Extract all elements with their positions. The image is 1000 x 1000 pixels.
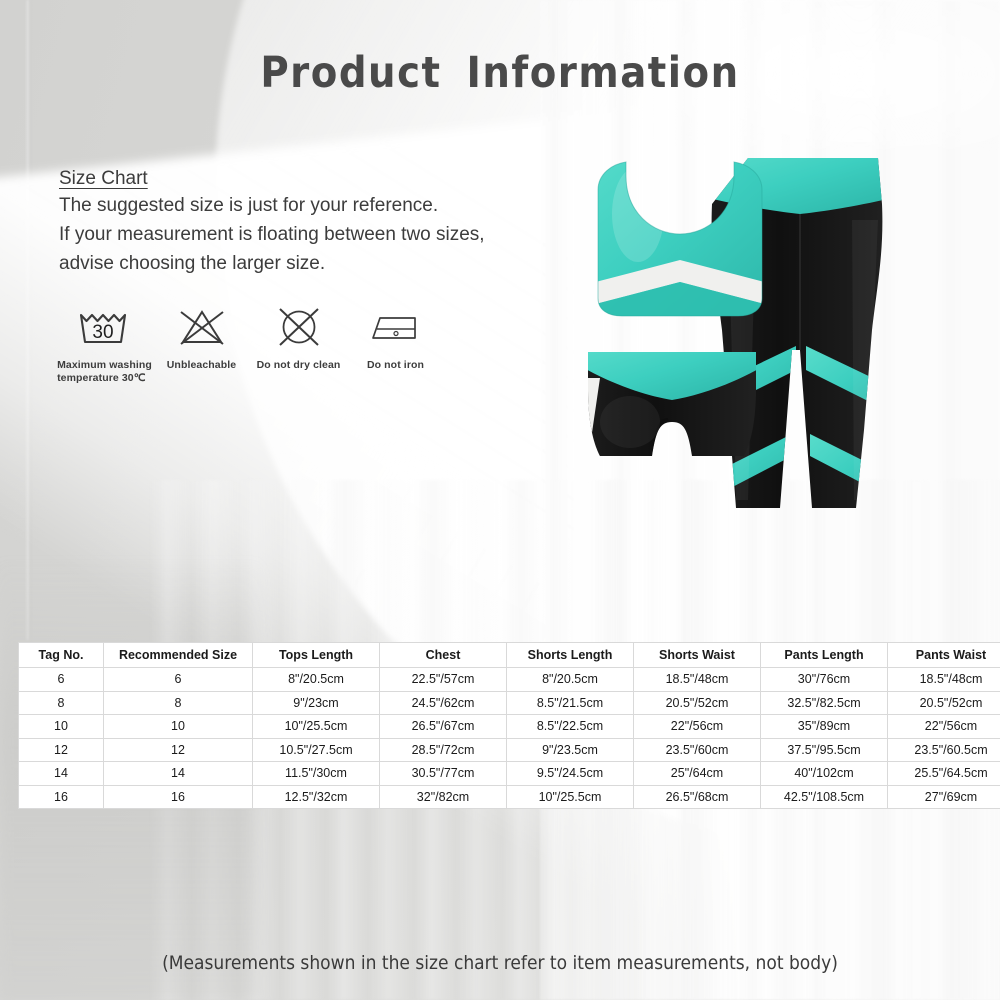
cell-shorts-waist: 23.5"/60cm [634, 738, 761, 762]
col-header-shorts-length: Shorts Length [507, 643, 634, 668]
care-item-washing: 30 Maximum washing temperature 30℃ [56, 304, 153, 385]
no-iron-icon [368, 304, 424, 350]
cell-recommended-size: 14 [104, 762, 253, 786]
table-header-row: Tag No. Recommended Size Tops Length Che… [19, 643, 1000, 668]
cell-chest: 30.5"/77cm [380, 762, 507, 786]
col-header-shorts-waist: Shorts Waist [634, 643, 761, 668]
cell-recommended-size: 6 [104, 668, 253, 692]
cell-pants-length: 32.5"/82.5cm [761, 691, 888, 715]
table-row: 889"/23cm24.5"/62cm8.5"/21.5cm20.5"/52cm… [19, 691, 1000, 715]
col-header-chest: Chest [380, 643, 507, 668]
cell-pants-waist: 22"/56cm [888, 715, 1000, 739]
table-row: 141411.5"/30cm30.5"/77cm9.5"/24.5cm25"/6… [19, 762, 1000, 786]
cell-pants-waist: 20.5"/52cm [888, 691, 1000, 715]
cell-shorts-waist: 22"/56cm [634, 715, 761, 739]
cell-chest: 22.5"/57cm [380, 668, 507, 692]
cell-tops-length: 12.5"/32cm [253, 785, 380, 809]
size-chart-line-2: If your measurement is floating between … [59, 220, 485, 249]
cell-shorts-length: 9"/23.5cm [507, 738, 634, 762]
cell-recommended-size: 8 [104, 691, 253, 715]
care-item-bleach: Unbleachable [153, 304, 250, 372]
cell-tops-length: 10.5"/27.5cm [253, 738, 380, 762]
size-chart-heading: Size Chart [59, 166, 485, 191]
cell-tops-length: 9"/23cm [253, 691, 380, 715]
size-chart-info: Size Chart The suggested size is just fo… [59, 166, 485, 278]
cell-tops-length: 11.5"/30cm [253, 762, 380, 786]
care-item-iron: Do not iron [347, 304, 444, 372]
footer-note: (Measurements shown in the size chart re… [0, 952, 1000, 974]
cell-tag-no: 6 [19, 668, 104, 692]
cell-pants-waist: 27"/69cm [888, 785, 1000, 809]
cell-shorts-waist: 20.5"/52cm [634, 691, 761, 715]
no-bleach-triangle-icon [176, 304, 228, 350]
table-row: 161612.5"/32cm32"/82cm10"/25.5cm26.5"/68… [19, 785, 1000, 809]
cell-chest: 26.5"/67cm [380, 715, 507, 739]
product-shorts [576, 344, 770, 464]
cell-recommended-size: 10 [104, 715, 253, 739]
cell-shorts-waist: 25"/64cm [634, 762, 761, 786]
cell-shorts-length: 8"/20.5cm [507, 668, 634, 692]
cell-tag-no: 12 [19, 738, 104, 762]
product-bra-top [580, 150, 780, 330]
cell-pants-length: 40"/102cm [761, 762, 888, 786]
cell-shorts-length: 10"/25.5cm [507, 785, 634, 809]
care-label-washing: Maximum washing temperature 30℃ [57, 359, 152, 385]
table-row: 121210.5"/27.5cm28.5"/72cm9"/23.5cm23.5"… [19, 738, 1000, 762]
wash-tub-30-icon: 30 [77, 304, 133, 350]
cell-chest: 24.5"/62cm [380, 691, 507, 715]
care-label-iron: Do not iron [367, 359, 424, 372]
care-label-washing-line2: temperature 30℃ [57, 372, 146, 384]
cell-pants-waist: 18.5"/48cm [888, 668, 1000, 692]
col-header-tops-length: Tops Length [253, 643, 380, 668]
svg-text:30: 30 [92, 322, 113, 343]
col-header-tag-no: Tag No. [19, 643, 104, 668]
table-row: 101010"/25.5cm26.5"/67cm8.5"/22.5cm22"/5… [19, 715, 1000, 739]
cell-shorts-waist: 18.5"/48cm [634, 668, 761, 692]
size-chart-line-1: The suggested size is just for your refe… [59, 191, 485, 220]
col-header-recommended-size: Recommended Size [104, 643, 253, 668]
table-row: 668"/20.5cm22.5"/57cm8"/20.5cm18.5"/48cm… [19, 668, 1000, 692]
cell-shorts-length: 9.5"/24.5cm [507, 762, 634, 786]
cell-shorts-length: 8.5"/22.5cm [507, 715, 634, 739]
cell-pants-length: 42.5"/108.5cm [761, 785, 888, 809]
cell-tag-no: 10 [19, 715, 104, 739]
page-title: Product Information [0, 48, 1000, 98]
care-label-washing-line1: Maximum washing [57, 359, 152, 371]
size-table: Tag No. Recommended Size Tops Length Che… [18, 642, 1000, 809]
cell-shorts-waist: 26.5"/68cm [634, 785, 761, 809]
cell-pants-length: 37.5"/95.5cm [761, 738, 888, 762]
cell-recommended-size: 12 [104, 738, 253, 762]
no-dry-clean-circle-icon [274, 304, 324, 350]
col-header-pants-length: Pants Length [761, 643, 888, 668]
care-instructions: 30 Maximum washing temperature 30℃ Unble… [56, 304, 444, 385]
cell-pants-length: 35"/89cm [761, 715, 888, 739]
cell-tops-length: 8"/20.5cm [253, 668, 380, 692]
care-item-dry-clean: Do not dry clean [250, 304, 347, 372]
cell-chest: 32"/82cm [380, 785, 507, 809]
cell-pants-waist: 23.5"/60.5cm [888, 738, 1000, 762]
cell-tag-no: 8 [19, 691, 104, 715]
cell-chest: 28.5"/72cm [380, 738, 507, 762]
cell-shorts-length: 8.5"/21.5cm [507, 691, 634, 715]
col-header-pants-waist: Pants Waist [888, 643, 1000, 668]
cell-pants-length: 30"/76cm [761, 668, 888, 692]
size-chart-line-3: advise choosing the larger size. [59, 249, 485, 278]
cell-tag-no: 14 [19, 762, 104, 786]
care-label-bleach: Unbleachable [167, 359, 236, 372]
cell-recommended-size: 16 [104, 785, 253, 809]
cell-tag-no: 16 [19, 785, 104, 809]
cell-pants-waist: 25.5"/64.5cm [888, 762, 1000, 786]
product-photo [560, 130, 920, 550]
care-label-dry-clean: Do not dry clean [257, 359, 341, 372]
cell-tops-length: 10"/25.5cm [253, 715, 380, 739]
size-table-container: Tag No. Recommended Size Tops Length Che… [18, 642, 982, 809]
